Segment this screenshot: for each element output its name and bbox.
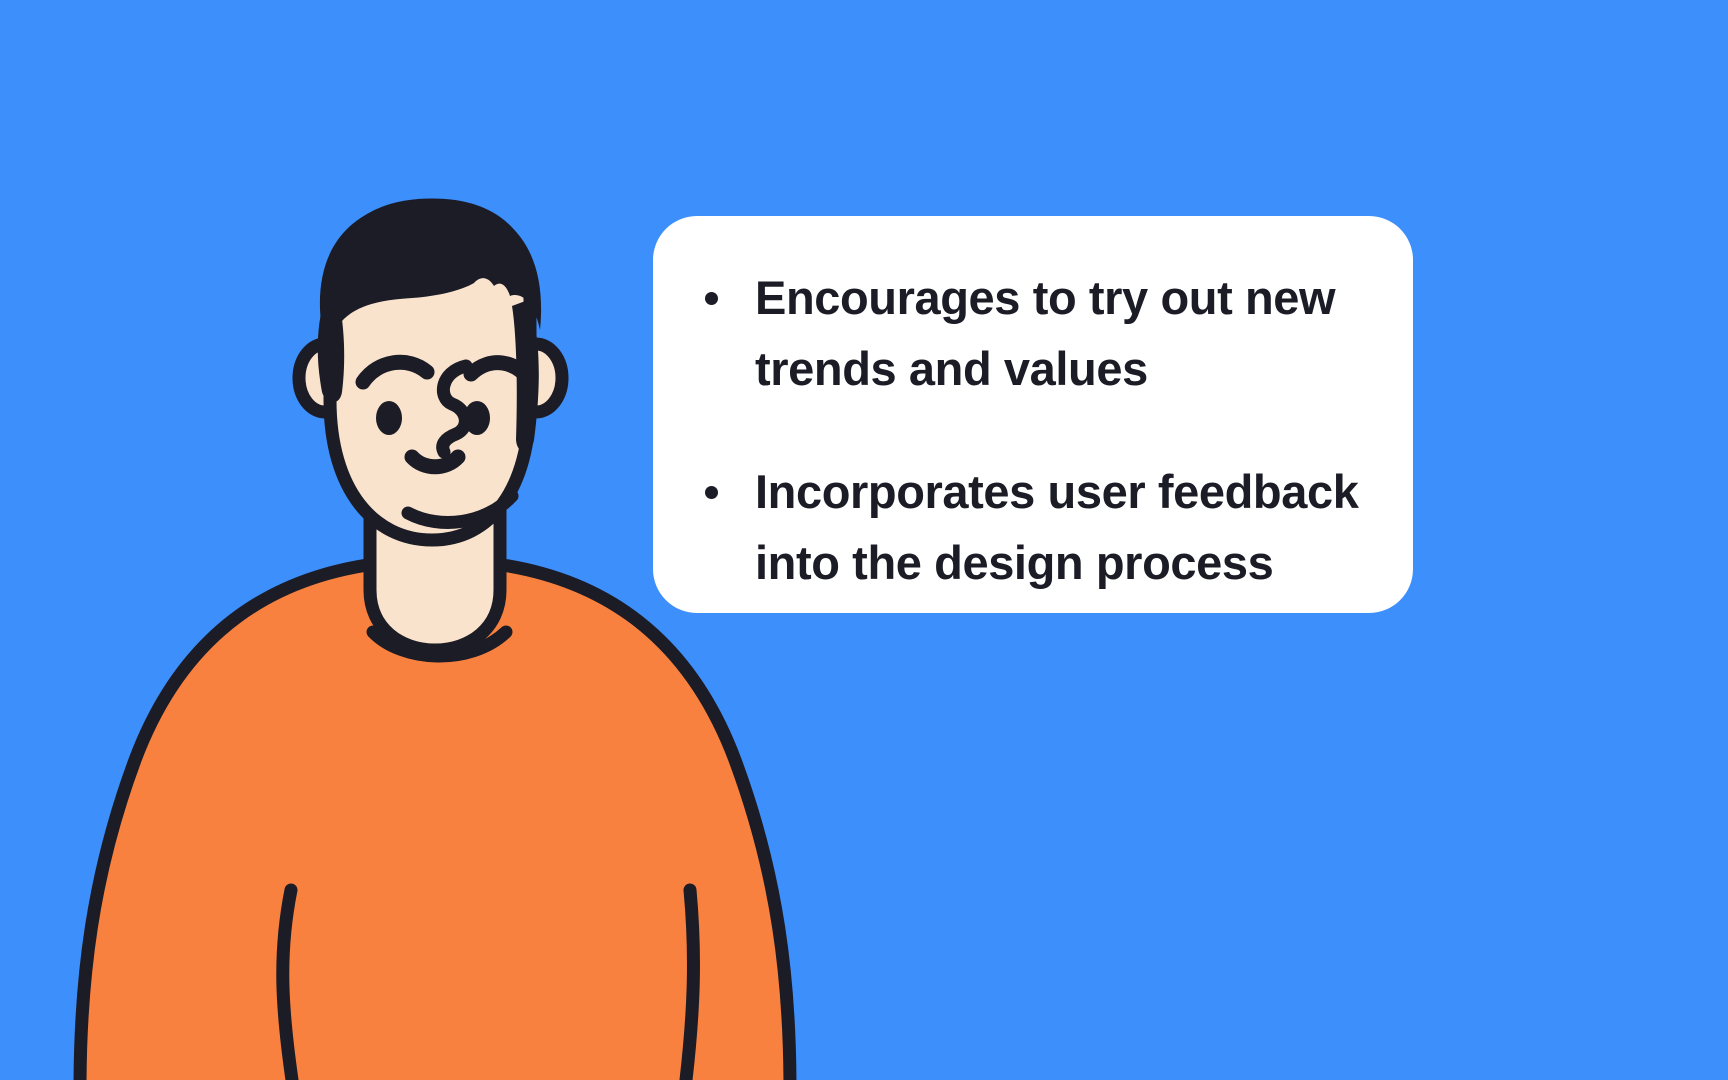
sweater-right-crease <box>686 890 693 1080</box>
bullet-dot-icon <box>705 292 718 305</box>
left-eye <box>376 401 402 435</box>
bullet-dot-icon <box>705 486 718 499</box>
list-item: Incorporates user feedback into the desi… <box>705 456 1361 598</box>
slide-canvas: Encourages to try out new trends and val… <box>0 0 1728 1080</box>
bullet-text: Encourages to try out new trends and val… <box>755 271 1335 395</box>
list-item: Encourages to try out new trends and val… <box>705 262 1361 404</box>
callout-card: Encourages to try out new trends and val… <box>653 216 1413 613</box>
bullet-list: Encourages to try out new trends and val… <box>705 262 1361 598</box>
bullet-text: Incorporates user feedback into the desi… <box>755 465 1358 589</box>
hair-left-sideburn <box>318 300 344 403</box>
